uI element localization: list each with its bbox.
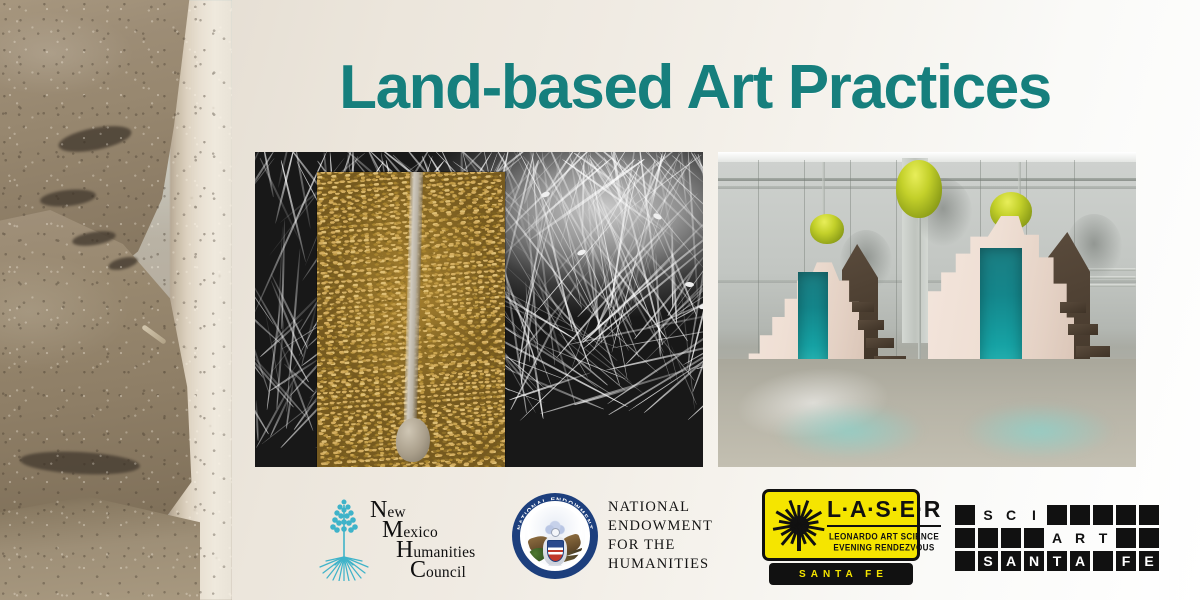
sciart-block (1070, 505, 1090, 525)
gallery-wall-panel (758, 160, 759, 360)
neh-line: NATIONAL (608, 498, 713, 517)
gallery-installation-photo (718, 152, 1136, 467)
stair-tread (866, 338, 894, 348)
neh-line: FOR THE (608, 536, 713, 555)
seal-emblem (525, 506, 585, 566)
sciart-letter-s: S (978, 551, 998, 571)
laser-location-label: SANTA FE (794, 569, 888, 580)
page-title: Land-based Art Practices (255, 55, 1135, 120)
sciart-letter-a: A (1070, 551, 1090, 571)
eagle-head (551, 528, 560, 537)
sponsor-logo-row: New Mexico Humanities Council NATIONAL E… (300, 487, 1180, 587)
sciart-letter-f: F (1116, 551, 1136, 571)
nmhc-word: ouncil (426, 564, 466, 581)
stair-tread (852, 302, 874, 312)
laser-wordmark: L·A·S·E·R (827, 498, 941, 524)
sciart-letter-grid: SCIARTSANTAFE (955, 505, 1159, 571)
sciart-grid-row: ART (955, 528, 1159, 548)
sciart-block (978, 528, 998, 548)
green-orb (896, 160, 942, 218)
laser-location-bar: SANTA FE (769, 563, 913, 585)
sciart-block (955, 505, 975, 525)
neh-seal-icon: NATIONAL ENDOWMENT FOR THE HUMANITIES (512, 493, 598, 579)
yucca-plant-icon (318, 495, 370, 581)
sciart-letter-a: A (1001, 551, 1021, 571)
seal-base-leaves (544, 564, 566, 566)
laser-subtitle-line2: EVENING RENDEZVOUS (827, 541, 941, 554)
laser-burst-icon (771, 497, 827, 553)
stair-tread (1068, 324, 1098, 335)
stair-tread (1060, 302, 1086, 313)
sciart-letter-n: N (1024, 551, 1044, 571)
green-orb (810, 214, 844, 244)
neh-line: ENDOWMENT (608, 517, 713, 536)
sciart-block (1116, 528, 1136, 548)
stair-tread (1076, 346, 1110, 357)
sciart-block (1139, 505, 1159, 525)
laser-divider (827, 525, 941, 527)
sciart-block (1001, 528, 1021, 548)
nmhc-wordmark: New Mexico Humanities Council (370, 495, 512, 581)
sciart-block (1024, 528, 1044, 548)
sciart-block (1139, 528, 1159, 548)
sciart-letter-t: T (1047, 551, 1067, 571)
sciart-letter-i: I (1024, 505, 1044, 525)
poster-canvas: Land-based Art Practices (0, 0, 1200, 600)
sciart-block (955, 528, 975, 548)
logo-new-mexico-humanities-council[interactable]: New Mexico Humanities Council (318, 495, 512, 581)
neh-line: HUMANITIES (608, 555, 713, 574)
logo-national-endowment-for-the-humanities[interactable]: NATIONAL ENDOWMENT FOR THE HUMANITIES (512, 493, 713, 579)
sciart-letter-r: R (1070, 528, 1090, 548)
sciart-letter-t: T (1093, 528, 1113, 548)
teal-floor-glow (964, 403, 1114, 459)
sciart-block (1093, 551, 1113, 571)
seed-grass-photo (255, 152, 703, 467)
sciart-letter-c: C (1001, 505, 1021, 525)
adobe-plaster-edge (170, 0, 232, 600)
laser-badge: L·A·S·E·R LEONARDO ART SCIENCE EVENING R… (762, 489, 920, 561)
neh-wordmark: NATIONAL ENDOWMENT FOR THE HUMANITIES (608, 498, 713, 574)
sciart-block (955, 551, 975, 571)
teal-floor-glow (774, 403, 924, 459)
sciart-block (1047, 505, 1067, 525)
sciart-grid-row: SCI (955, 505, 1159, 525)
seed-color-inset (317, 172, 505, 467)
sciart-block (1093, 505, 1113, 525)
sciart-block (1116, 505, 1136, 525)
sciart-letter-e: E (1139, 551, 1159, 571)
stair-tread (858, 320, 884, 330)
sciart-letter-a: A (1047, 528, 1067, 548)
nmhc-cap: C (410, 557, 426, 583)
eagle-shield (547, 540, 564, 562)
sciart-letter-s: S (978, 505, 998, 525)
logo-sci-art-santa-fe[interactable]: SCIARTSANTAFE (955, 505, 1159, 571)
logo-laser-santa-fe[interactable]: L·A·S·E·R LEONARDO ART SCIENCE EVENING R… (762, 489, 920, 585)
adobe-wall-photo (0, 0, 232, 600)
sciart-grid-row: SANTAFE (955, 551, 1159, 571)
